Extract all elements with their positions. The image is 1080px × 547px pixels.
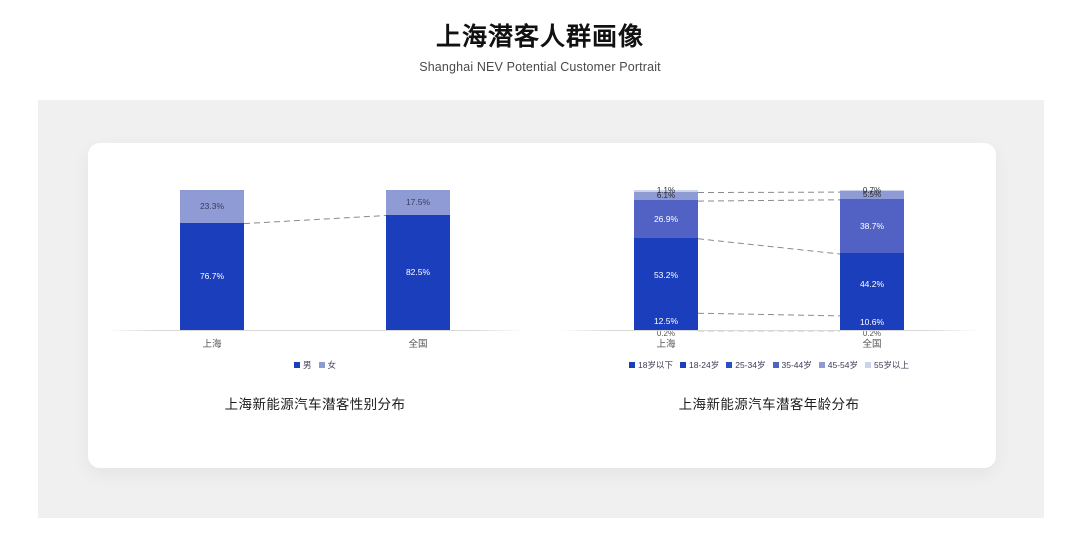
age-legend-label: 18岁以下: [638, 359, 673, 371]
gender-legend: 男女: [88, 359, 542, 371]
age-segment-label: 0.7%: [863, 187, 881, 195]
gender-chart-caption: 上海新能源汽车潜客性别分布: [88, 393, 542, 413]
gender-segment-女[interactable]: 17.5%: [386, 190, 450, 215]
age-category-national: 全国: [840, 336, 904, 350]
legend-swatch-icon: [773, 362, 779, 368]
gender-plot-area: 76.7%23.3% 82.5%17.5%: [88, 191, 542, 331]
age-segment-label: 10.6%: [860, 318, 884, 327]
age-segment-55岁以上[interactable]: 1.1%: [634, 190, 698, 192]
gender-legend-item[interactable]: 女: [319, 359, 337, 371]
age-segment-55岁以上[interactable]: 0.7%: [840, 190, 904, 191]
age-segment-25-34岁[interactable]: 44.2%: [840, 253, 904, 315]
gender-segment-label: 23.3%: [200, 202, 224, 211]
legend-swatch-icon: [680, 362, 686, 368]
age-plot-area: 0.2%12.5%53.2%26.9%6.1%1.1% 0.2%10.6%44.…: [542, 191, 996, 331]
gender-legend-label: 男: [303, 359, 312, 371]
age-segment-35-44岁[interactable]: 38.7%: [840, 199, 904, 253]
age-legend-item[interactable]: 25-34岁: [726, 359, 765, 371]
age-segment-label: 44.2%: [860, 280, 884, 289]
gender-segment-男[interactable]: 76.7%: [180, 223, 244, 330]
age-bar-national[interactable]: 0.2%10.6%44.2%38.7%5.5%0.7%: [840, 190, 904, 330]
gender-segment-label: 17.5%: [406, 198, 430, 207]
age-legend-item[interactable]: 35-44岁: [773, 359, 812, 371]
gender-bar-shanghai[interactable]: 76.7%23.3%: [180, 190, 244, 330]
legend-swatch-icon: [629, 362, 635, 368]
legend-swatch-icon: [319, 362, 325, 368]
age-connector-line: [698, 200, 840, 201]
age-legend-label: 25-34岁: [735, 359, 765, 371]
age-axis-line: [560, 330, 978, 331]
age-legend-label: 55岁以上: [874, 359, 909, 371]
gender-connector-line: [244, 216, 386, 224]
slide-page: 上海潜客人群画像 Shanghai NEV Potential Customer…: [0, 0, 1080, 547]
age-bar-shanghai[interactable]: 0.2%12.5%53.2%26.9%6.1%1.1%: [634, 190, 698, 330]
gender-segment-label: 82.5%: [406, 268, 430, 277]
charts-row: 76.7%23.3% 82.5%17.5% 上海 全国 男女 上海新能源汽车潜客…: [88, 143, 996, 468]
age-segment-25-34岁[interactable]: 53.2%: [634, 238, 698, 312]
age-connector-line: [698, 239, 840, 254]
age-legend-item[interactable]: 55岁以上: [865, 359, 909, 371]
age-chart-caption: 上海新能源汽车潜客年龄分布: [542, 393, 996, 413]
page-subtitle: Shanghai NEV Potential Customer Portrait: [0, 60, 1080, 74]
age-legend-label: 18-24岁: [689, 359, 719, 371]
age-legend-item[interactable]: 18-24岁: [680, 359, 719, 371]
age-segment-35-44岁[interactable]: 26.9%: [634, 200, 698, 238]
gender-axis-line: [106, 330, 524, 331]
chart-gender: 76.7%23.3% 82.5%17.5% 上海 全国 男女 上海新能源汽车潜客…: [88, 143, 542, 468]
age-category-shanghai: 上海: [634, 336, 698, 350]
legend-swatch-icon: [865, 362, 871, 368]
age-legend-label: 45-54岁: [828, 359, 858, 371]
age-segment-label: 1.1%: [657, 187, 675, 195]
gender-category-shanghai: 上海: [180, 336, 244, 350]
age-legend-label: 35-44岁: [782, 359, 812, 371]
age-segment-label: 38.7%: [860, 222, 884, 231]
legend-swatch-icon: [294, 362, 300, 368]
gender-segment-男[interactable]: 82.5%: [386, 215, 450, 331]
legend-swatch-icon: [726, 362, 732, 368]
chart-age: 0.2%12.5%53.2%26.9%6.1%1.1% 0.2%10.6%44.…: [542, 143, 996, 468]
age-segment-18-24岁[interactable]: 12.5%: [634, 312, 698, 330]
age-legend-item[interactable]: 18岁以下: [629, 359, 673, 371]
gender-segment-label: 76.7%: [200, 272, 224, 281]
age-segment-label: 26.9%: [654, 215, 678, 224]
legend-swatch-icon: [819, 362, 825, 368]
gender-legend-label: 女: [328, 359, 337, 371]
gender-category-labels: 上海 全国: [88, 336, 542, 352]
page-title: 上海潜客人群画像: [0, 22, 1080, 53]
gender-legend-item[interactable]: 男: [294, 359, 312, 371]
age-segment-label: 12.5%: [654, 317, 678, 326]
age-legend-item[interactable]: 45-54岁: [819, 359, 858, 371]
age-segment-18-24岁[interactable]: 10.6%: [840, 315, 904, 330]
page-header: 上海潜客人群画像 Shanghai NEV Potential Customer…: [0, 0, 1080, 74]
age-legend: 18岁以下18-24岁25-34岁35-44岁45-54岁55岁以上: [542, 359, 996, 371]
age-segment-label: 53.2%: [654, 271, 678, 280]
gender-category-national: 全国: [386, 336, 450, 350]
gender-bar-national[interactable]: 82.5%17.5%: [386, 190, 450, 330]
age-connector-lines: [542, 191, 996, 331]
age-connector-line: [698, 313, 840, 316]
gender-connector-lines: [88, 191, 542, 331]
age-category-labels: 上海 全国: [542, 336, 996, 352]
gender-segment-女[interactable]: 23.3%: [180, 190, 244, 223]
